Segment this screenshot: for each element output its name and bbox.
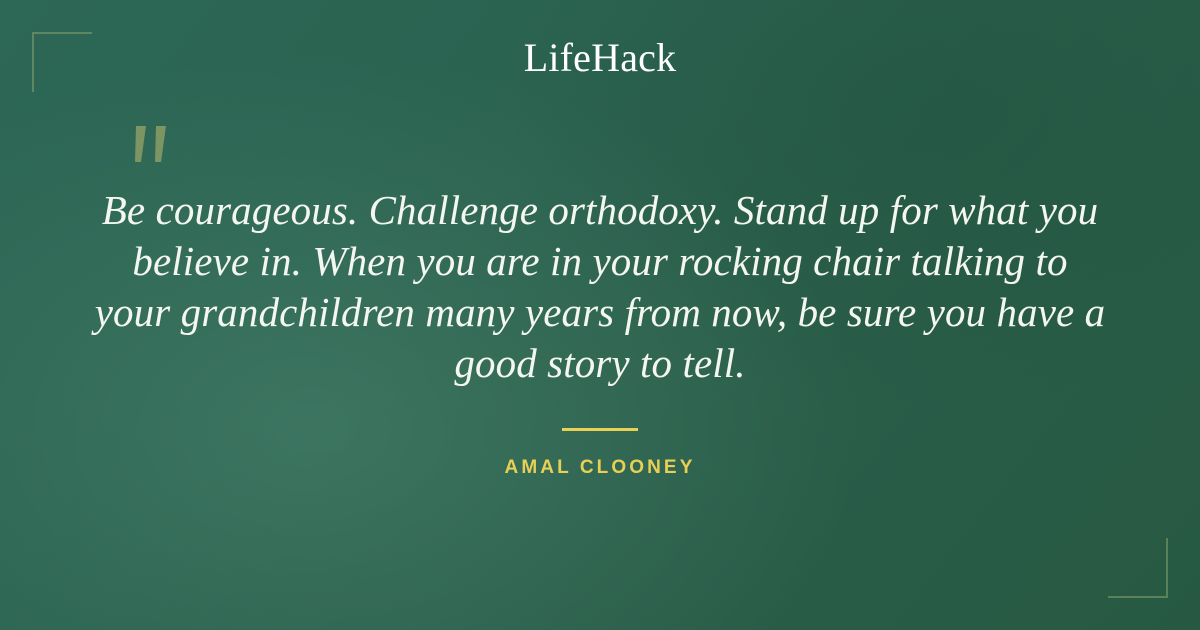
brand-logo: LifeHack [524, 38, 677, 78]
attribution-author-name: AMAL CLOONEY [505, 457, 696, 479]
brand-row: LifeHack [0, 38, 1200, 78]
corner-bracket-bottom-right-icon [1108, 538, 1168, 598]
attribution-divider [562, 428, 638, 431]
attribution-block: AMAL CLOONEY [0, 428, 1200, 479]
quote-block: Be courageous. Challenge orthodoxy. Stan… [90, 185, 1110, 389]
quote-card: LifeHack Be courageous. Challenge orthod… [0, 0, 1200, 630]
double-quote-mark-icon [128, 124, 184, 168]
quote-text: Be courageous. Challenge orthodoxy. Stan… [90, 185, 1110, 389]
